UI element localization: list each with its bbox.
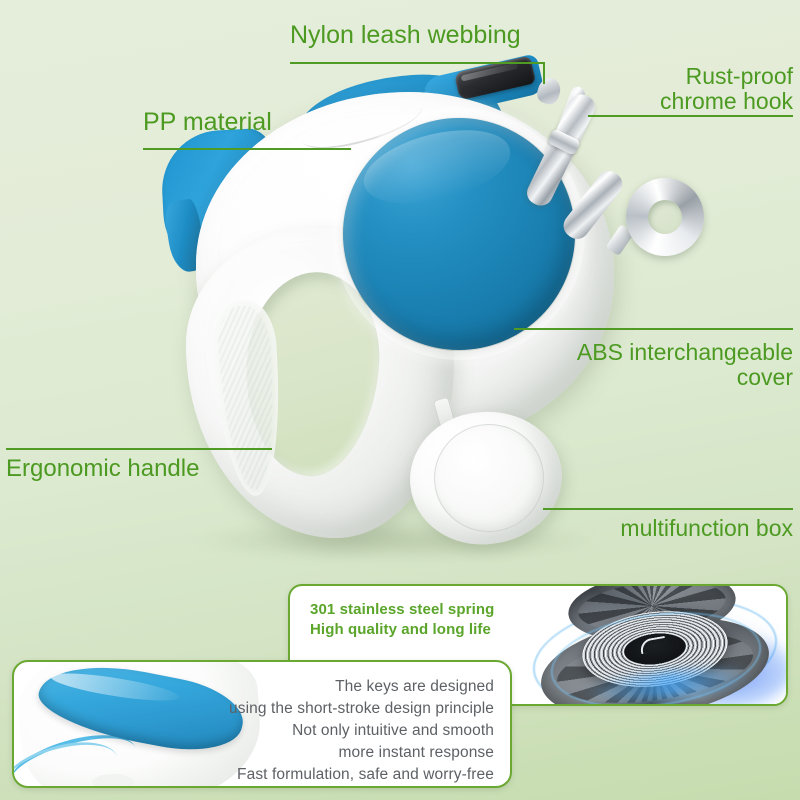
keys-text-line-2: using the short-stroke design principle <box>229 698 494 720</box>
callout-label-ergonomic-handle: Ergonomic handle <box>6 456 199 482</box>
chrome-swivel-bolt-snap <box>626 178 704 256</box>
keys-card-body-text: The keys are designed using the short-st… <box>229 676 494 786</box>
keys-text-line-4: more instant response <box>229 742 494 764</box>
callout-rule-multifunction-box <box>543 508 793 510</box>
brake-key-image <box>14 662 264 786</box>
spring-heading-line-2: High quality and long life <box>310 620 494 640</box>
callout-rule-nylon-leash-webbing <box>290 62 545 64</box>
callout-rule-elbow-nylon-leash-webbing <box>543 62 545 84</box>
callout-label-multifunction-box: multifunction box <box>543 516 793 541</box>
spring-card-heading: 301 stainless steel spring High quality … <box>310 600 494 640</box>
callout-rule-ergonomic-handle <box>6 448 272 450</box>
spring-mechanism-image <box>524 586 786 704</box>
keys-feature-card: The keys are designed using the short-st… <box>12 660 512 788</box>
key-bottom-notch <box>92 774 134 786</box>
callout-rule-rust-proof-chrome-hook <box>588 115 793 117</box>
callout-label-pp-material: PP material <box>143 109 272 136</box>
callout-label-rust-proof-chrome-hook: Rust-proof chrome hook <box>558 64 793 114</box>
keys-text-line-1: The keys are designed <box>229 676 494 698</box>
keys-text-line-5: Fast formulation, safe and worry-free <box>229 764 494 786</box>
callout-label-nylon-leash-webbing: Nylon leash webbing <box>290 22 521 49</box>
product-hero-image: Nylon leash webbing Rust-proof chrome ho… <box>0 0 800 590</box>
keys-text-line-3: Not only intuitive and smooth <box>229 720 494 742</box>
callout-rule-pp-material <box>143 148 351 150</box>
callout-label-abs-interchangeable-cover: ABS interchangeable cover <box>520 340 793 390</box>
spring-heading-line-1: 301 stainless steel spring <box>310 600 494 620</box>
callout-rule-abs-interchangeable-cover <box>514 328 793 330</box>
